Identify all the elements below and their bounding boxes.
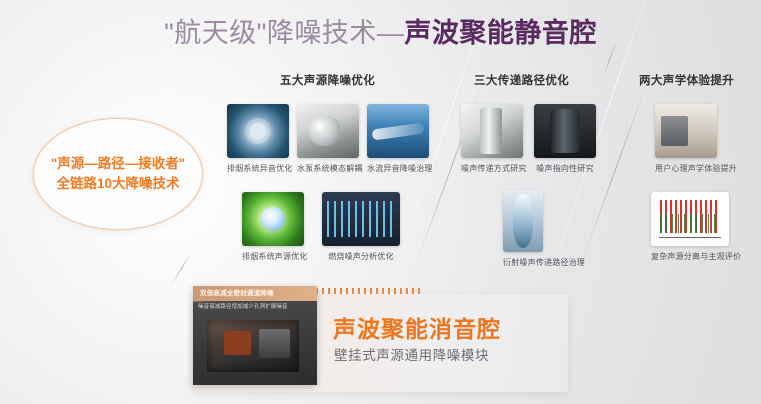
product-photo-caption-1: 双倍衰减全密封通道降噪 [200, 287, 274, 297]
thumbnail-spectrum-chart-image [651, 192, 729, 246]
card-noise-transfer-method[interactable]: 噪声传递方式研究 [461, 104, 527, 174]
card-caption: 水流异音降噪治理 [367, 163, 433, 174]
card-caption: 衍射噪声传递路径治理 [503, 257, 585, 268]
card-noise-directivity[interactable]: 噪声指向性研究 [534, 104, 596, 174]
product-photo: 双倍衰减全密封通道降噪 噪音衰减路径增加减少孔洞扩展噪音 [193, 286, 317, 385]
thumbnail-room-image [655, 104, 717, 158]
thumbnail-duct-image [461, 104, 523, 158]
product-photo-caption-2: 噪音衰减路径增加减少孔洞扩展噪音 [198, 302, 288, 310]
thumbnail-water-image [367, 104, 429, 158]
card-exhaust-abnormal-noise[interactable]: 排烟系统异音优化 [227, 104, 293, 174]
card-caption: 用户心理声学体验提升 [655, 163, 737, 174]
column-header-paths: 三大传递路径优化 [474, 72, 569, 88]
summary-badge: "声源—路径—接收者" 全链路10大降噪技术 [33, 118, 203, 230]
summary-badge-line-1: "声源—路径—接收者" [51, 154, 185, 174]
page-title-bold: 声波聚能静音腔 [404, 18, 597, 48]
card-water-flow-noise[interactable]: 水流异音降噪治理 [367, 104, 433, 174]
slide-canvas: "航天级"降噪技术—声波聚能静音腔 五大声源降噪优化 三大传递路径优化 两大声学… [0, 0, 761, 404]
page-title-light: "航天级"降噪技术— [164, 18, 404, 48]
card-source-separation-evaluation[interactable]: 复杂声源分离与主观评价 [651, 192, 741, 262]
card-caption: 水泵系统模态解耦 [297, 163, 363, 174]
product-name: 声波聚能消音腔 [333, 310, 501, 344]
column-header-experience: 两大声学体验提升 [639, 72, 734, 88]
card-pump-modal-decoupling[interactable]: 水泵系统模态解耦 [297, 104, 363, 174]
page-title: "航天级"降噪技术—声波聚能静音腔 [0, 16, 761, 50]
card-caption: 噪声传递方式研究 [461, 163, 527, 174]
card-caption: 排烟系统异音优化 [227, 163, 293, 174]
thumbnail-pump-image [297, 104, 359, 158]
card-psychoacoustic-experience[interactable]: 用户心理声学体验提升 [655, 104, 737, 174]
column-header-sources: 五大声源降噪优化 [280, 72, 375, 88]
thumbnail-cylinder-image [534, 104, 596, 158]
product-device-render [207, 320, 299, 372]
card-exhaust-source-optimization[interactable]: 排烟系统声源优化 [242, 192, 308, 262]
thumbnail-burner-image [322, 192, 400, 246]
thumbnail-smoke-image [242, 192, 304, 246]
card-caption: 排烟系统声源优化 [242, 251, 308, 262]
card-combustion-noise-analysis[interactable]: 燃烧噪声分析优化 [322, 192, 400, 262]
card-caption: 燃烧噪声分析优化 [322, 251, 400, 262]
thumbnail-fan-image [227, 104, 289, 158]
card-caption: 复杂声源分离与主观评价 [651, 251, 741, 262]
summary-badge-line-2: 全链路10大降噪技术 [56, 174, 179, 194]
banner-dotted-decoration [316, 288, 424, 294]
product-tagline: 壁挂式声源通用降噪模块 [334, 344, 489, 364]
thumbnail-diffraction-image [503, 190, 543, 252]
column-divider-3 [169, 253, 191, 287]
card-diffraction-path-control[interactable]: 衍射噪声传递路径治理 [503, 190, 585, 268]
card-caption: 噪声指向性研究 [534, 163, 596, 174]
